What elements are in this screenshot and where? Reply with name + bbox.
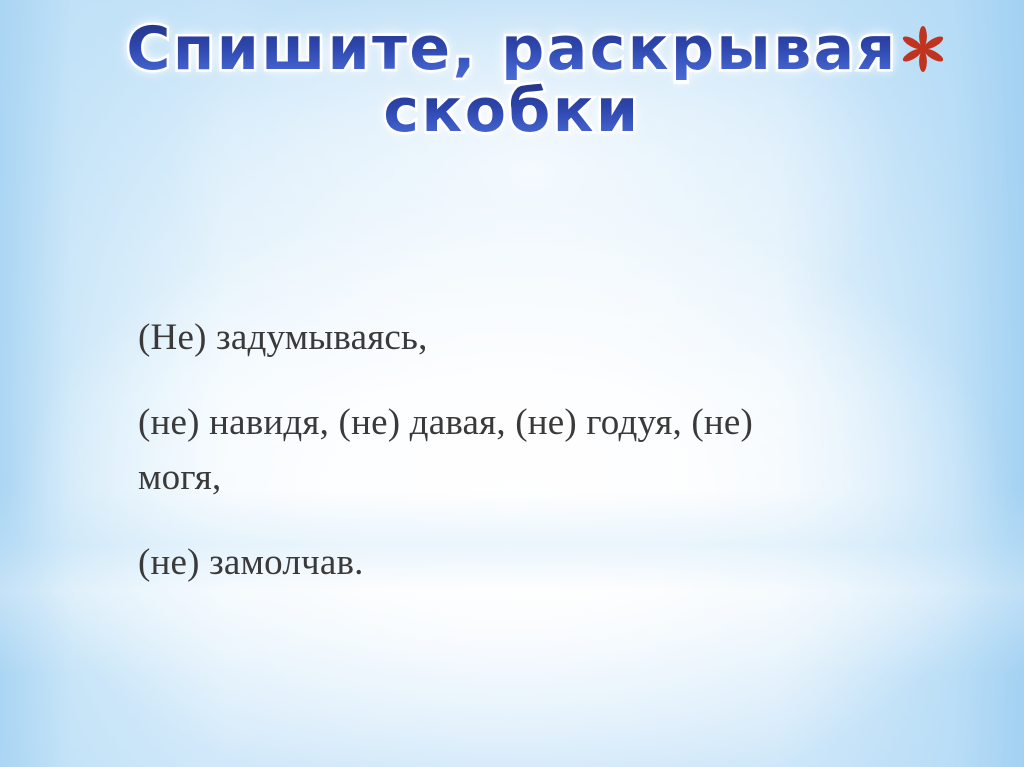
slide-title: Спишите, раскрывая Спишите, раскрывая ск… [0,18,1024,142]
title-line-1: Спишите, раскрывая Спишите, раскрывая [0,18,1024,80]
body-paragraph-2: (не) навидя, (не) давая, (не) годуя, (не… [138,395,790,505]
title-line-2: скобки скобки [0,80,1024,142]
title-line-1-text: Спишите, раскрывая [0,18,1024,80]
slide-body: (Не) задумываясь, (не) навидя, (не) дава… [138,310,838,590]
body-paragraph-3: (не) замолчав. [138,535,838,590]
body-paragraph-1: (Не) задумываясь, [138,310,838,365]
title-line-2-text: скобки [0,80,1024,142]
slide-canvas: Спишите, раскрывая Спишите, раскрывая ск… [0,0,1024,767]
asterisk-icon [900,26,946,72]
